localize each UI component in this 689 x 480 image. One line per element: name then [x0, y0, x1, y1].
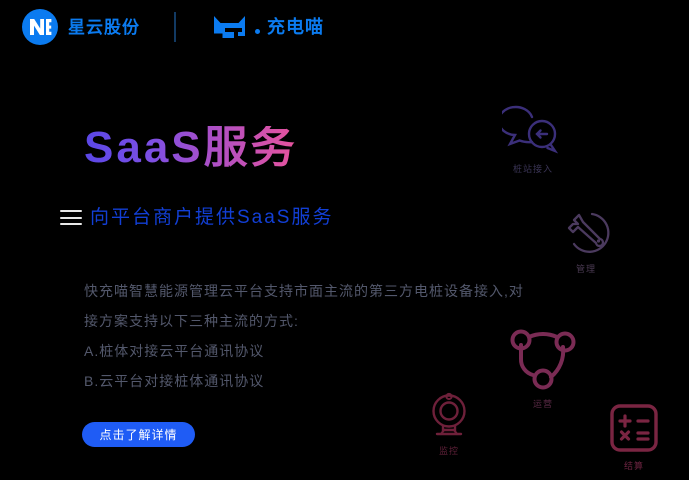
cat-logo-dot-icon — [255, 29, 260, 34]
ne-circle-logo-icon — [22, 9, 58, 45]
header-bar: 星云股份 充电喵 — [0, 0, 689, 54]
hamburger-line — [60, 217, 82, 219]
feature-settle-label: 结算 — [624, 462, 644, 471]
hamburger-line — [60, 223, 82, 225]
feature-chat: 桩站接入 — [502, 104, 564, 174]
chat-bubbles-icon — [502, 104, 564, 161]
hamburger-icon — [60, 210, 82, 225]
brand-xingyun-label: 星云股份 — [68, 19, 140, 36]
brand-xingyun[interactable]: 星云股份 — [22, 9, 140, 45]
calculator-icon — [608, 403, 660, 458]
slide-canvas: 星云股份 充电喵 SaaS服务 向平台商户提供SaaS服务 快充喵智慧能源管理云… — [0, 0, 689, 480]
trophy-icon — [425, 390, 473, 443]
feature-network: 运营 — [503, 325, 583, 409]
description-line: 快充喵智慧能源管理云平台支持市面主流的第三方电桩设备接入,对 — [84, 276, 584, 306]
feature-network-label: 运营 — [533, 400, 553, 409]
learn-more-button[interactable]: 点击了解详情 — [82, 422, 195, 447]
subtitle-row: 向平台商户提供SaaS服务 — [60, 208, 333, 227]
share-nodes-icon — [503, 325, 583, 396]
feature-monitor-label: 监控 — [439, 447, 459, 456]
page-subtitle: 向平台商户提供SaaS服务 — [90, 208, 333, 227]
cat-head-logo-icon — [212, 15, 252, 39]
feature-manage: 管理 — [562, 210, 610, 274]
hamburger-line — [60, 210, 82, 212]
header-divider — [174, 12, 176, 42]
brand-chongdianmiao-label: 充电喵 — [267, 18, 324, 36]
wrench-icon — [562, 210, 610, 261]
feature-monitor: 监控 — [425, 390, 473, 456]
brand-chongdianmiao[interactable]: 充电喵 — [212, 15, 324, 39]
feature-settle: 结算 — [608, 403, 660, 471]
feature-chat-label: 桩站接入 — [513, 165, 553, 174]
page-title: SaaS服务 — [84, 126, 298, 170]
feature-manage-label: 管理 — [576, 265, 596, 274]
